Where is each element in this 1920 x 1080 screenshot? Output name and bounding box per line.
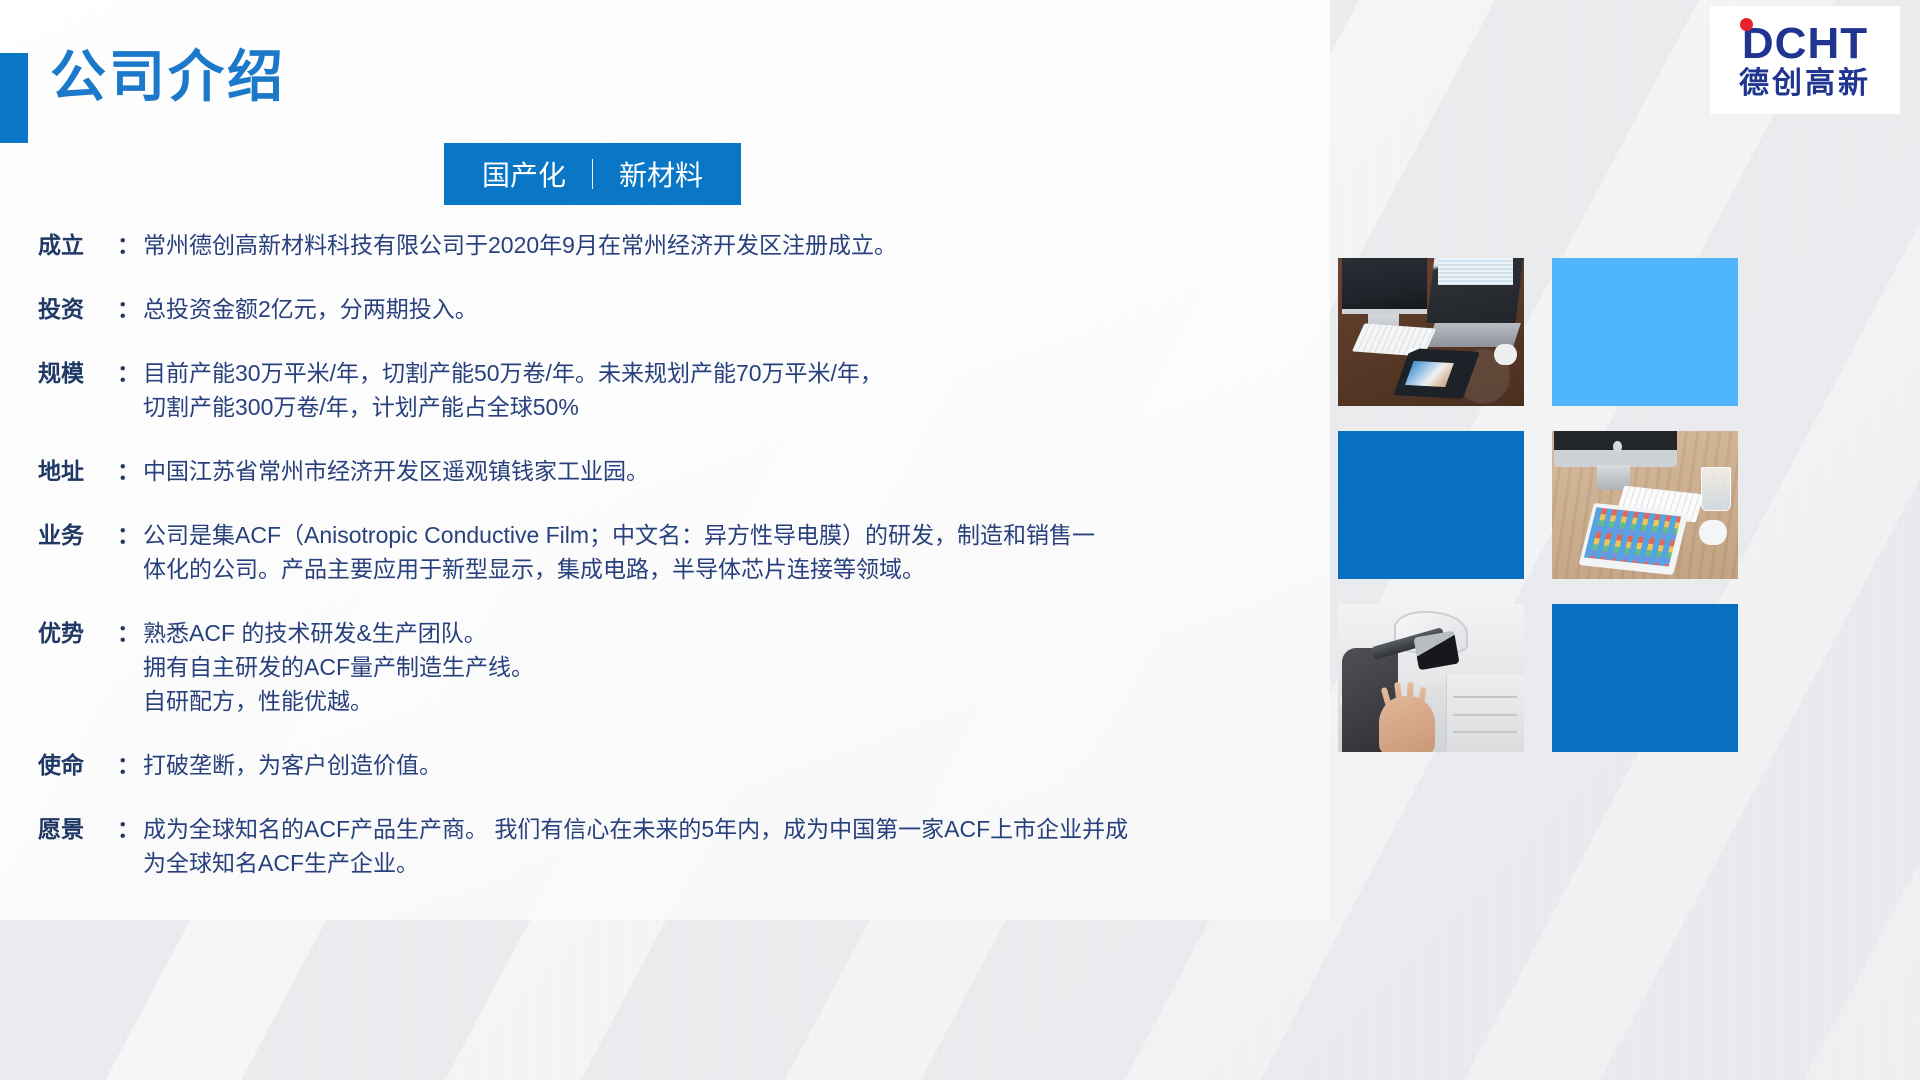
- drawer-line-shape: [1453, 731, 1516, 733]
- content-row-label: 地址: [38, 454, 116, 488]
- content-row-colon: ：: [116, 748, 143, 782]
- content-row-colon: ：: [116, 518, 143, 552]
- brand-logo: DCHT 德创高新: [1710, 6, 1900, 114]
- content-row: 投资：总投资金额2亿元，分两期投入。: [38, 292, 1328, 326]
- media-grid-row: [1338, 604, 1768, 752]
- content-row: 优势：熟悉ACF 的技术研发&生产团队。拥有自主研发的ACF量产制造生产线。自研…: [38, 616, 1328, 718]
- mouse-shape: [1699, 520, 1727, 545]
- content-row-colon: ：: [116, 454, 143, 488]
- content-row-label: 使命: [38, 748, 116, 782]
- photo-clinic-robot-arm-hand: [1338, 604, 1524, 752]
- content-row-line: 成为全球知名的ACF产品生产商。 我们有信心在未来的5年内，成为中国第一家ACF…: [143, 812, 1328, 846]
- water-glass-shape: [1701, 467, 1731, 511]
- content-row-value: 总投资金额2亿元，分两期投入。: [143, 292, 1328, 326]
- tagline-right: 新材料: [619, 154, 703, 194]
- content-row-label: 优势: [38, 616, 116, 650]
- content-row-line: 中国江苏省常州市经济开发区遥观镇钱家工业园。: [143, 454, 1328, 488]
- photo-desk-imac-keyboard-tablet: [1552, 431, 1738, 579]
- content-row-value: 目前产能30万平米/年，切割产能50万卷/年。未来规划产能70万平米/年，切割产…: [143, 356, 1328, 424]
- content-row-line: 常州德创高新材料科技有限公司于2020年9月在常州经济开发区注册成立。: [143, 228, 1328, 262]
- content-row-line: 熟悉ACF 的技术研发&生产团队。: [143, 616, 1328, 650]
- drawer-line-shape: [1453, 714, 1516, 716]
- content-row-colon: ：: [116, 356, 143, 390]
- tablet-screen-shape: [1405, 361, 1454, 387]
- content-row-value: 熟悉ACF 的技术研发&生产团队。拥有自主研发的ACF量产制造生产线。自研配方，…: [143, 616, 1328, 718]
- content-row: 地址：中国江苏省常州市经济开发区遥观镇钱家工业园。: [38, 454, 1328, 488]
- content-row: 使命：打破垄断，为客户创造价值。: [38, 748, 1328, 782]
- content-row-line: 总投资金额2亿元，分两期投入。: [143, 292, 1328, 326]
- content-row: 业务：公司是集ACF（Anisotropic Conductive Film；中…: [38, 518, 1328, 586]
- media-grid-row: [1338, 258, 1768, 406]
- content-row-label: 规模: [38, 356, 116, 390]
- content-row-colon: ：: [116, 616, 143, 650]
- tagline-banner: 国产化 新材料: [444, 143, 741, 205]
- hand-shape: [1379, 696, 1435, 752]
- content-row: 规模：目前产能30万平米/年，切割产能50万卷/年。未来规划产能70万平米/年，…: [38, 356, 1328, 424]
- content-row-value: 中国江苏省常州市经济开发区遥观镇钱家工业园。: [143, 454, 1328, 488]
- content-row-value: 成为全球知名的ACF产品生产商。 我们有信心在未来的5年内，成为中国第一家ACF…: [143, 812, 1328, 880]
- slide: 公司介绍 DCHT 德创高新 国产化 新材料 成立：常州德创高新材料科技有限公司…: [0, 0, 1920, 1080]
- logo-wordmark: 德创高新: [1739, 69, 1871, 99]
- imac-shape: [1342, 258, 1428, 314]
- content-row-line: 公司是集ACF（Anisotropic Conductive Film；中文名：…: [143, 518, 1328, 552]
- content-row: 愿景：成为全球知名的ACF产品生产商。 我们有信心在未来的5年内，成为中国第一家…: [38, 812, 1328, 880]
- logo-mark-text: DCHT: [1742, 19, 1868, 68]
- light-blue-tile: [1552, 258, 1738, 406]
- logo-mark: DCHT: [1742, 22, 1868, 66]
- content-row-colon: ：: [116, 228, 143, 262]
- logo-dot-icon: [1740, 18, 1753, 31]
- drawer-line-shape: [1453, 696, 1516, 698]
- page-title: 公司介绍: [50, 46, 286, 108]
- content-list: 成立：常州德创高新材料科技有限公司于2020年9月在常州经济开发区注册成立。投资…: [38, 228, 1328, 910]
- content-row-label: 愿景: [38, 812, 116, 846]
- content-row-value: 公司是集ACF（Anisotropic Conductive Film；中文名：…: [143, 518, 1328, 586]
- content-row-label: 成立: [38, 228, 116, 262]
- robot-head-shape: [1414, 630, 1460, 669]
- content-row-line: 目前产能30万平米/年，切割产能50万卷/年。未来规划产能70万平米/年，: [143, 356, 1328, 390]
- content-row: 成立：常州德创高新材料科技有限公司于2020年9月在常州经济开发区注册成立。: [38, 228, 1328, 262]
- content-row-line: 切割产能300万卷/年，计划产能占全球50%: [143, 390, 1328, 424]
- mouse-shape: [1494, 344, 1516, 365]
- photo-desk-imac-laptop-tablet: [1338, 258, 1524, 406]
- content-row-label: 投资: [38, 292, 116, 326]
- content-row-value: 常州德创高新材料科技有限公司于2020年9月在常州经济开发区注册成立。: [143, 228, 1328, 262]
- title-accent-bar: [0, 53, 28, 143]
- content-row-line: 拥有自主研发的ACF量产制造生产线。: [143, 650, 1328, 684]
- dark-blue-tile: [1552, 604, 1738, 752]
- laptop-screen-ui-shape: [1438, 258, 1512, 285]
- tablet-app-icons-shape: [1584, 508, 1682, 567]
- media-grid: [1338, 258, 1768, 777]
- content-row-line: 自研配方，性能优越。: [143, 684, 1328, 718]
- content-row-value: 打破垄断，为客户创造价值。: [143, 748, 1328, 782]
- media-grid-row: [1338, 431, 1768, 579]
- content-row-line: 为全球知名ACF生产企业。: [143, 846, 1328, 880]
- content-row-line: 打破垄断，为客户创造价值。: [143, 748, 1328, 782]
- content-row-line: 体化的公司。产品主要应用于新型显示，集成电路，半导体芯片连接等领域。: [143, 552, 1328, 586]
- tagline-separator-icon: [592, 159, 593, 189]
- content-row-colon: ：: [116, 812, 143, 846]
- tagline-left: 国产化: [482, 154, 566, 194]
- content-row-label: 业务: [38, 518, 116, 552]
- dark-blue-tile: [1338, 431, 1524, 579]
- content-row-colon: ：: [116, 292, 143, 326]
